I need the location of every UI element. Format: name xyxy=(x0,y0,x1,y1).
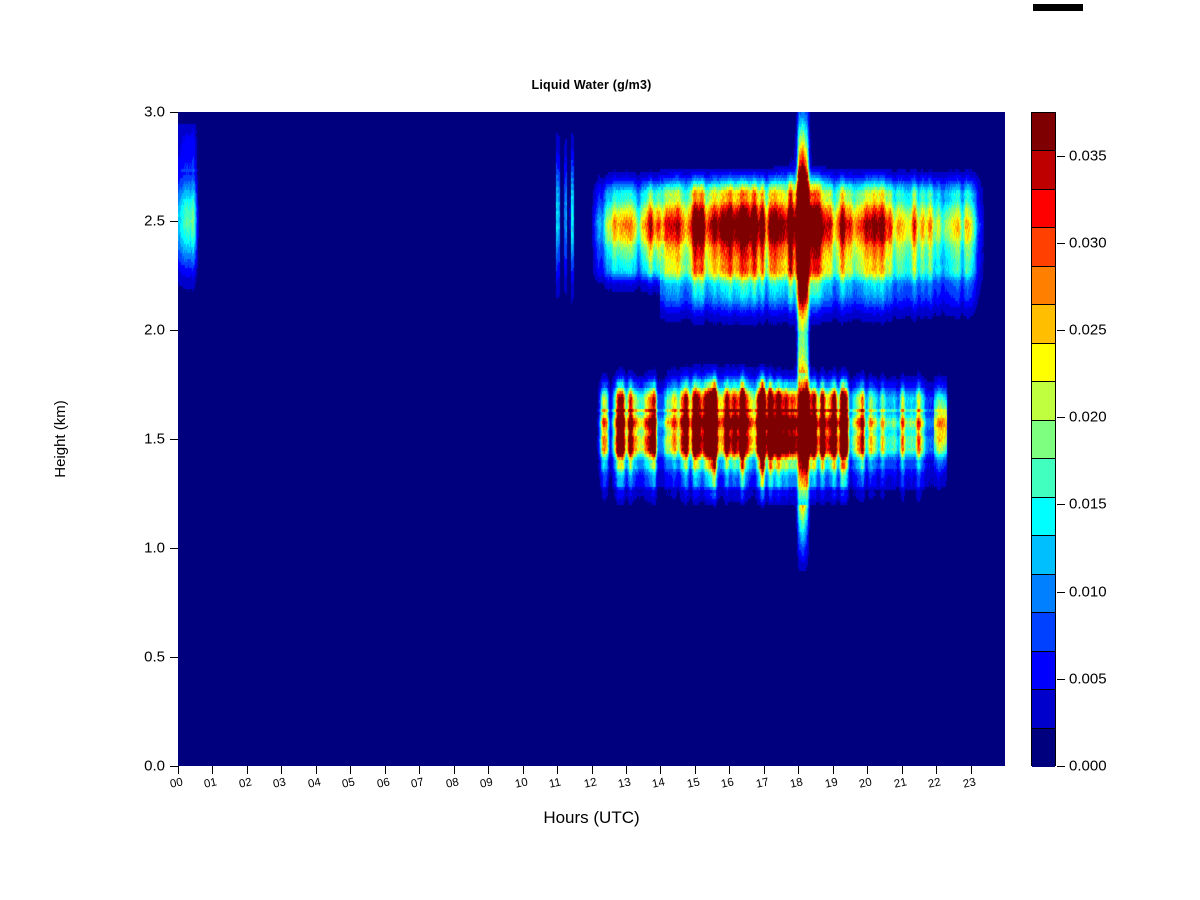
x-tick-label: 08 xyxy=(445,776,460,790)
x-tick-label: 09 xyxy=(479,776,494,790)
colorbar-tick-label: 0.000 xyxy=(1069,758,1107,775)
x-tick-label: 12 xyxy=(583,776,598,790)
colorbar-tick-label: 0.005 xyxy=(1069,670,1107,687)
y-tick-label: 1.5 xyxy=(144,431,165,448)
colorbar-swatch xyxy=(1032,382,1055,420)
x-tick-mark xyxy=(936,766,937,774)
x-tick-label: 05 xyxy=(341,776,356,790)
colorbar-tick-mark xyxy=(1057,243,1065,244)
x-tick-mark xyxy=(660,766,661,774)
x-tick-mark xyxy=(626,766,627,774)
colorbar-swatch xyxy=(1032,690,1055,728)
x-tick-label: 18 xyxy=(789,776,804,790)
liquid-water-heatmap-canvas xyxy=(178,112,1005,766)
x-tick-mark xyxy=(419,766,420,774)
x-tick-mark xyxy=(350,766,351,774)
colorbar-swatch xyxy=(1032,113,1055,151)
colorbar-tick-mark xyxy=(1057,766,1065,767)
colorbar-swatch xyxy=(1032,190,1055,228)
colorbar-tick-mark xyxy=(1057,417,1065,418)
colorbar-swatch xyxy=(1032,151,1055,189)
colorbar-tick-mark xyxy=(1057,156,1065,157)
x-tick-label: 01 xyxy=(203,776,218,790)
x-tick-label: 14 xyxy=(651,776,666,790)
colorbar-swatch xyxy=(1032,267,1055,305)
x-tick-mark xyxy=(798,766,799,774)
colorbar-tick-label: 0.030 xyxy=(1069,234,1107,251)
x-tick-label: 13 xyxy=(617,776,632,790)
x-tick-label: 22 xyxy=(927,776,942,790)
x-tick-mark xyxy=(178,766,179,774)
x-tick-mark xyxy=(902,766,903,774)
colorbar[interactable] xyxy=(1031,112,1056,766)
y-tick-label: 2.0 xyxy=(144,322,165,339)
x-tick-label: 04 xyxy=(307,776,322,790)
x-tick-mark xyxy=(316,766,317,774)
x-tick-label: 21 xyxy=(893,776,908,790)
y-axis-title: Height (km) xyxy=(52,400,69,478)
x-tick-mark xyxy=(592,766,593,774)
colorbar-tick-label: 0.035 xyxy=(1069,147,1107,164)
y-tick-mark xyxy=(170,112,178,113)
x-tick-label: 19 xyxy=(824,776,839,790)
y-tick-mark xyxy=(170,657,178,658)
x-tick-label: 20 xyxy=(858,776,873,790)
x-tick-label: 17 xyxy=(755,776,770,790)
heatmap-plot-area[interactable] xyxy=(178,112,1005,766)
y-tick-mark xyxy=(170,439,178,440)
x-tick-label: 07 xyxy=(410,776,425,790)
colorbar-tick-label: 0.015 xyxy=(1069,496,1107,513)
colorbar-tick-mark xyxy=(1057,592,1065,593)
colorbar-tick-label: 0.025 xyxy=(1069,322,1107,339)
y-tick-mark xyxy=(170,766,178,767)
x-tick-mark xyxy=(247,766,248,774)
colorbar-tick-mark xyxy=(1057,330,1065,331)
x-tick-mark xyxy=(833,766,834,774)
x-tick-mark xyxy=(281,766,282,774)
y-tick-label: 0.5 xyxy=(144,649,165,666)
y-tick-label: 2.5 xyxy=(144,213,165,230)
colorbar-swatch xyxy=(1032,613,1055,651)
y-tick-label: 1.0 xyxy=(144,540,165,557)
y-tick-mark xyxy=(170,221,178,222)
colorbar-swatch xyxy=(1032,421,1055,459)
colorbar-swatch xyxy=(1032,652,1055,690)
x-tick-mark xyxy=(385,766,386,774)
x-tick-label: 03 xyxy=(272,776,287,790)
colorbar-swatch xyxy=(1032,305,1055,343)
top-black-bar-artifact xyxy=(1033,4,1083,11)
y-tick-mark xyxy=(170,548,178,549)
x-tick-label: 11 xyxy=(548,777,562,791)
y-tick-label: 3.0 xyxy=(144,104,165,121)
x-tick-mark xyxy=(729,766,730,774)
colorbar-swatch xyxy=(1032,344,1055,382)
x-tick-mark xyxy=(557,766,558,774)
colorbar-swatch xyxy=(1032,575,1055,613)
x-tick-label: 10 xyxy=(514,776,529,790)
x-tick-label: 23 xyxy=(962,776,977,790)
x-tick-mark xyxy=(867,766,868,774)
colorbar-swatch xyxy=(1032,459,1055,497)
x-tick-label: 06 xyxy=(376,776,391,790)
y-tick-label: 0.0 xyxy=(144,758,165,775)
colorbar-swatch xyxy=(1032,536,1055,574)
x-tick-label: 16 xyxy=(720,776,735,790)
page-title: Liquid Water (g/m3) xyxy=(178,78,1005,92)
x-tick-mark xyxy=(971,766,972,774)
colorbar-tick-label: 0.020 xyxy=(1069,409,1107,426)
x-tick-mark xyxy=(764,766,765,774)
colorbar-tick-mark xyxy=(1057,504,1065,505)
colorbar-swatch xyxy=(1032,228,1055,266)
x-tick-label: 00 xyxy=(169,776,184,790)
colorbar-tick-mark xyxy=(1057,679,1065,680)
colorbar-tick-label: 0.010 xyxy=(1069,583,1107,600)
x-axis-title: Hours (UTC) xyxy=(178,808,1005,828)
x-tick-label: 15 xyxy=(686,776,701,790)
x-tick-mark xyxy=(454,766,455,774)
x-tick-mark xyxy=(488,766,489,774)
x-tick-mark xyxy=(695,766,696,774)
y-tick-mark xyxy=(170,330,178,331)
x-tick-mark xyxy=(212,766,213,774)
colorbar-swatch xyxy=(1032,498,1055,536)
x-tick-label: 02 xyxy=(238,776,253,790)
x-tick-mark xyxy=(523,766,524,774)
colorbar-swatch xyxy=(1032,729,1055,767)
